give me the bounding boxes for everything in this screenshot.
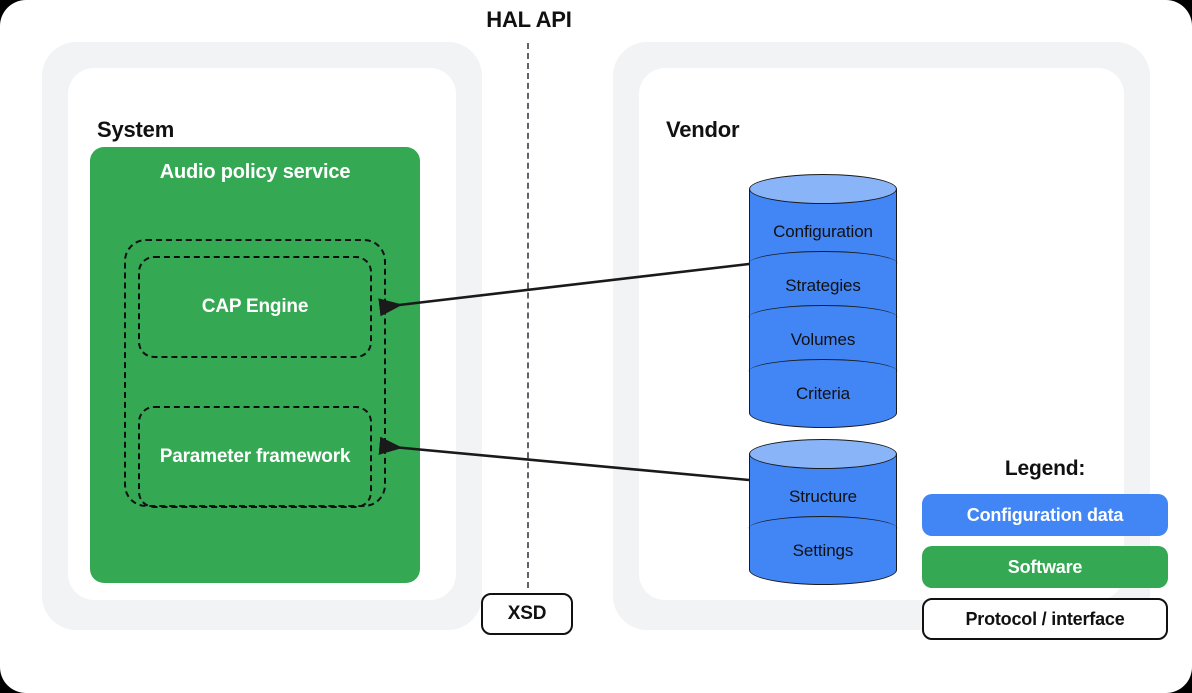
parameter-framework-label: Parameter framework	[160, 446, 351, 468]
legend-item-protocol-interface: Protocol / interface	[922, 598, 1168, 640]
xsd-protocol-box: XSD	[481, 593, 573, 635]
xsd-label: XSD	[508, 603, 546, 625]
legend-item-label: Protocol / interface	[965, 609, 1124, 630]
cylinder-top-ellipse	[749, 439, 897, 469]
parameter-framework-block: Parameter framework	[138, 406, 372, 508]
cylinder-segment: Volumes	[750, 305, 896, 359]
system-label: System	[97, 117, 174, 143]
audio-policy-service-box: Audio policy service CAP Engine Paramete…	[90, 147, 420, 583]
cylinder-body: Structure Settings	[749, 454, 897, 570]
legend-item-software: Software	[922, 546, 1168, 588]
vendor-label: Vendor	[666, 117, 739, 143]
cap-engine-block: CAP Engine	[138, 256, 372, 358]
configuration-datastore-cylinder: Configuration Strategies Volumes Criteri…	[749, 174, 897, 428]
hal-api-boundary-line	[527, 43, 529, 588]
legend: Legend: Configuration data Software Prot…	[922, 457, 1168, 650]
cylinder-segment: Criteria	[750, 359, 896, 413]
cylinder-segment: Strategies	[750, 251, 896, 305]
structure-datastore-cylinder: Structure Settings	[749, 439, 897, 585]
legend-item-label: Software	[1008, 557, 1082, 578]
cap-engine-label: CAP Engine	[202, 296, 308, 318]
cylinder-body: Configuration Strategies Volumes Criteri…	[749, 189, 897, 413]
diagram-canvas: HAL API System Vendor Audio policy servi…	[0, 0, 1192, 693]
cylinder-segment: Settings	[750, 516, 896, 570]
audio-policy-service-label: Audio policy service	[90, 161, 420, 184]
cylinder-top-ellipse	[749, 174, 897, 204]
legend-item-label: Configuration data	[967, 505, 1123, 526]
hal-api-title: HAL API	[0, 7, 1058, 33]
legend-title: Legend:	[922, 457, 1168, 481]
legend-item-configuration-data: Configuration data	[922, 494, 1168, 536]
